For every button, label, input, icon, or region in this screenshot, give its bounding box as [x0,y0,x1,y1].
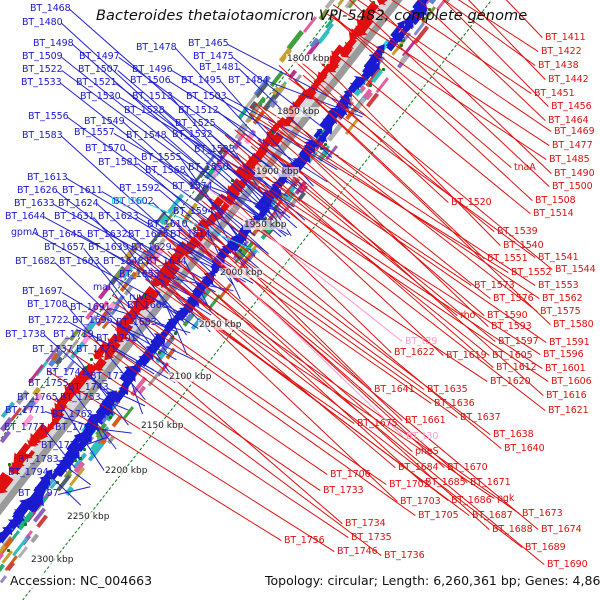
gene-label-reverse[interactable]: BT_1638 [493,430,534,440]
feature-bar [122,406,134,420]
gene-label-reverse[interactable]: BT_1702 [389,480,430,490]
gene-label-reverse[interactable]: BT_1553 [538,281,579,291]
gene-label-reverse[interactable]: BT_1688 [492,525,533,535]
gene-label-forward[interactable]: BT_1522 [22,65,63,75]
gene-label-forward[interactable]: BT_1549 [84,117,125,127]
gene-label-reverse[interactable]: BT_1675 [357,419,398,429]
feature-marker-dot [8,463,11,466]
gene-label-reverse[interactable]: BT_1661 [405,416,446,426]
gene-label-reverse[interactable]: BT_1500 [552,182,593,192]
feature-marker-dot [109,416,112,419]
gene-label-reverse[interactable]: BT_1580 [553,320,594,330]
gene-label-reverse[interactable]: BT_1438 [538,61,579,71]
gene-label-forward[interactable]: BT_1506 [130,76,171,86]
gene-label-forward[interactable]: BT_1498 [33,39,74,49]
gene-label-reverse[interactable]: BT_1612 [496,363,537,373]
leader-line-trna [209,188,403,342]
gene-label-forward[interactable]: BT_1478 [136,43,177,53]
feature-marker-dot [382,68,385,71]
gene-label-reverse[interactable]: BT_1422 [541,47,582,57]
gene-label-reverse[interactable]: BT_1591 [549,338,590,348]
gene-label-forward[interactable]: BT_1691 [70,303,111,313]
gene-label-forward[interactable]: BT_1497 [79,52,120,62]
gene-label-forward[interactable]: BT_1775 [41,441,82,451]
gene-label-forward[interactable]: BT_1626 [17,186,58,196]
feature-bar [400,55,409,65]
feature-bar [209,294,221,309]
gene-label-forward[interactable]: BT_1648 [103,257,144,267]
gene-label-forward[interactable]: BT_1570 [85,144,126,154]
gene-label-reverse[interactable]: BT_1514 [533,209,574,219]
gene-label-forward[interactable]: BT_1722 [28,316,69,326]
gene-label-reverse[interactable]: BT_1605 [492,351,533,361]
leader-line-reverse [82,332,381,556]
gene-label-reverse[interactable]: BT_1735 [351,533,392,543]
gene-label-forward[interactable]: BT_1568 [145,166,186,176]
feature-marker-dot [158,351,161,354]
gene-label-reverse[interactable]: BT_1635 [427,385,468,395]
trna-label[interactable]: BT_t30 [406,432,438,442]
gene-label-forward[interactable]: BT_1794 [8,468,49,478]
gene-label-reverse[interactable]: BT_1562 [542,294,583,304]
gene-label-forward[interactable]: BT_1771 [5,406,46,416]
gene-label-reverse[interactable]: BT_1689 [525,543,566,553]
gene-label-reverse[interactable]: BT_1705 [418,511,459,521]
gene-label-forward[interactable]: BT_1663 [59,257,100,267]
gene-label-forward[interactable]: BT_1525 [175,119,216,129]
feature-bar [287,30,304,50]
feature-marker-dot [83,448,86,451]
gene-label-reverse[interactable]: BT_1596 [543,350,584,360]
feature-marker-dot [239,249,242,252]
leader-line-reverse [268,121,491,299]
gene-label-forward[interactable]: BT_1777 [4,423,45,433]
gene-label-forward[interactable]: BT_1668 [127,301,168,311]
gene-label-forward[interactable]: BT_1538 [194,145,235,155]
gene-label-reverse[interactable]: BT_1640 [504,444,545,454]
kbp-tick-label: 2250 kbp [66,512,110,522]
gene-label-reverse[interactable]: BT_1606 [551,377,592,387]
gene-label-forward[interactable]: BT_1555 [141,153,182,163]
feature-marker-dot [215,201,218,204]
gene-label-forward[interactable]: BT_1629 [131,243,172,253]
gene-label-reverse[interactable]: BT_1621 [548,406,589,416]
gene-label-forward[interactable]: BT_1611 [62,186,103,196]
gene-label-forward[interactable]: BT_1625 [128,230,169,240]
gene-label-reverse[interactable]: BT_1622 [394,348,435,358]
feature-bar [429,0,437,4]
kbp-tick-label: 1800 kbp [286,54,330,64]
gene-label-reverse[interactable]: BT_1686 [451,496,492,506]
gene-label-forward[interactable]: maf [93,283,111,293]
feature-bar [6,562,15,572]
gene-label-forward[interactable]: BT_1755 [28,379,69,389]
gene-label-forward[interactable]: BT_1513 [132,92,173,102]
gene-label-reverse[interactable]: BT_1451 [534,89,575,99]
gene-label-forward[interactable]: BT_1633 [14,199,55,209]
gene-label-reverse[interactable]: BT_1756 [284,536,325,546]
gene-label-reverse[interactable]: BT_1575 [540,307,581,317]
feature-bar [345,118,359,135]
gene-label-reverse[interactable]: BT_1673 [522,509,563,519]
gene-label-forward[interactable]: BT_1719 [53,330,94,340]
gene-label-forward[interactable]: BT_1657 [44,243,85,253]
feature-marker-dot [400,44,403,47]
gene-label-forward[interactable]: BT_1613 [27,173,68,183]
topology-label: Topology: circular; Length: 6,260,361 bp… [263,573,600,588]
gene-label-forward[interactable]: BT_1634 [146,257,187,267]
gene-label-forward[interactable]: BT_1581 [98,158,139,168]
gene-label-reverse[interactable]: BT_1637 [460,413,501,423]
feature-marker-dot [24,523,27,526]
gene-label-forward[interactable]: BT_1721 [76,345,117,355]
gene-label-forward[interactable]: BT_1548 [126,131,167,141]
gene-label-reverse[interactable]: BT_1520 [451,198,492,208]
gene-label-forward[interactable]: BT_1509 [22,52,63,62]
gene-label-reverse[interactable]: BT_1590 [487,311,528,321]
gene-label-reverse[interactable]: pgk [497,494,514,504]
gene-label-forward[interactable]: BT_1481 [199,63,240,73]
gene-label-forward[interactable]: gpmA [11,228,38,238]
gene-label-forward[interactable]: BT_1484 [228,76,269,86]
gene-label-forward[interactable]: BT_1475 [193,52,234,62]
gene-label-forward[interactable]: BT_1797 [18,489,59,499]
gene-label-reverse[interactable]: BT_1541 [538,253,579,263]
gene-label-reverse[interactable]: BT_1539 [497,227,538,237]
leader-line-reverse [365,0,551,174]
kbp-tick-label: 2150 kbp [140,421,184,431]
gene-label-reverse[interactable]: BT_1670 [447,463,488,473]
gene-label-forward[interactable]: BT_1697 [22,287,63,297]
kbp-tick-label: 2100 kbp [168,372,212,382]
kbp-tick-label: 1850 kbp [276,107,320,117]
gene-label-reverse[interactable]: BT_1551 [487,254,528,264]
gene-label-forward[interactable]: BT_1507 [78,65,119,75]
gene-label-reverse[interactable]: BT_1477 [552,141,593,151]
gene-label-forward[interactable]: BT_1737 [32,345,73,355]
trna-label[interactable]: BT_t28 [111,197,143,207]
gene-label-reverse[interactable]: BT_1706 [330,470,371,480]
feature-marker-dot [174,332,177,335]
feature-marker-dot [90,358,93,361]
gene-label-forward[interactable]: BT_1645 [42,230,83,240]
gene-label-reverse[interactable]: BT_1442 [548,75,589,85]
gene-label-forward[interactable]: BT_1465 [188,39,229,49]
gene-label-reverse[interactable]: BT_1597 [498,337,539,347]
gene-label-reverse[interactable]: BT_1464 [548,116,589,126]
gene-label-forward[interactable]: BT_1766 [55,423,96,433]
gene-label-reverse[interactable]: BT_1593 [491,322,532,332]
feature-marker-dot [171,336,174,339]
kbp-tick-label: 1900 kbp [255,167,299,177]
gene-label-forward[interactable]: BT_1574 [172,182,213,192]
genome-map-viewport[interactable]: BT_1468BT_1480BT_1498BT_1465BT_1478BT_15… [0,0,600,600]
gene-label-reverse[interactable]: BT_1490 [554,169,595,179]
leader-line-reverse [264,126,485,316]
gene-label-reverse[interactable]: BT_1573 [474,281,515,291]
gene-label-forward[interactable]: BT_1701 [96,334,137,344]
gene-label-forward[interactable]: BT_1610 [147,220,188,230]
gene-label-forward[interactable]: BT_1682 [15,257,56,267]
feature-marker-dot [324,143,327,146]
feature-marker-dot [56,481,59,484]
gene-label-reverse[interactable]: BT_1733 [323,486,364,496]
gene-label-forward[interactable]: BT_1624 [58,199,99,209]
gene-label-reverse[interactable]: BT_1703 [400,497,441,507]
gene-label-forward[interactable]: BT_1639 [88,243,129,253]
leader-line-reverse [194,187,488,382]
gene-label-forward[interactable]: BT_1495 [181,76,222,86]
feature-marker-dot [7,549,10,552]
feature-marker-dot [231,179,234,182]
gene-label-reverse[interactable]: BT_1641 [374,385,415,395]
gene-label-forward[interactable]: BT_1556 [28,112,69,122]
gene-label-forward[interactable]: BT_1614 [170,230,211,240]
gene-label-forward[interactable]: BT_1644 [5,212,46,222]
gene-label-forward[interactable]: BT_1512 [178,106,219,116]
gene-label-forward[interactable]: BT_1592 [119,184,160,194]
gene-label-forward[interactable]: BT_1753 [60,393,101,403]
page-title: Bacteroides thetaiotaomicron VPI-5482, c… [96,8,527,24]
gene-label-reverse[interactable]: BT_1734 [345,519,386,529]
accession-label: Accession: NC_004663 [8,573,154,588]
feature-marker-dot [369,84,372,87]
gene-label-reverse[interactable]: BT_1576 [493,294,534,304]
gene-label-reverse[interactable]: BT_1619 [446,351,487,361]
feature-bar [148,368,163,386]
feature-marker-dot [402,39,405,42]
gene-label-forward[interactable]: BT_1532 [172,130,213,140]
gene-label-reverse[interactable]: BT_1601 [545,364,586,374]
gene-label-forward[interactable]: BT_1741 [46,368,87,378]
gene-label-reverse[interactable]: BT_1544 [555,265,596,275]
kbp-tick-label: 2000 kbp [219,268,263,278]
gene-label-forward[interactable]: BT_1696 [72,316,113,326]
gene-label-forward[interactable]: BT_1683 [116,318,157,328]
feature-bar [294,74,302,82]
feature-marker-dot [320,147,323,150]
gene-label-forward[interactable]: BT_1503 [186,92,227,102]
gene-label-forward[interactable]: BT_1550 [188,163,229,173]
leader-line-reverse [319,61,501,246]
feature-marker-dot [274,206,277,209]
gene-label-forward[interactable]: BT_1708 [27,300,68,310]
leader-line-reverse [199,220,372,390]
gene-label-forward[interactable]: BT_1496 [132,65,173,75]
gene-label-reverse[interactable]: BT_1552 [511,268,552,278]
gene-label-reverse[interactable]: BT_1736 [384,551,425,561]
gene-label-reverse[interactable]: BT_1687 [472,511,513,521]
gene-label-forward[interactable]: BT_1623 [98,212,139,222]
gene-label-forward[interactable]: BT_1468 [30,4,71,14]
leader-line-reverse [236,152,490,356]
gene-label-reverse[interactable]: BT_1674 [541,525,582,535]
gene-label-forward[interactable]: BT_1480 [22,18,63,28]
feature-bar [0,575,7,583]
gene-label-reverse[interactable]: BT_1616 [546,391,587,401]
gene-label-reverse[interactable]: BT_1684 [398,463,439,473]
gene-label-reverse[interactable]: BT_1746 [337,547,378,557]
gene-label-reverse[interactable]: BT_1469 [554,127,595,137]
feature-bar [376,77,389,93]
gene-label-forward[interactable]: BT_1521 [76,78,117,88]
gene-label-forward[interactable]: BT_1783 [18,455,59,465]
kbp-tick-label: 2050 kbp [198,320,242,330]
gene-label-reverse[interactable]: BT_1456 [551,102,592,112]
leader-line-reverse [127,259,469,516]
gene-label-forward[interactable]: BT_1631 [54,212,95,222]
gene-label-forward[interactable]: BT_1557 [74,128,115,138]
feature-bar [65,486,74,496]
gene-label-reverse[interactable]: BT_1620 [490,377,531,387]
gene-label-forward[interactable]: BT_1594 [173,207,214,217]
gene-label-forward[interactable]: BT_1762 [52,410,93,420]
kbp-tick-label: 1950 kbp [243,220,287,230]
kbp-tick-label: 2300 kbp [30,555,74,565]
gene-label-forward[interactable]: BT_1632 [87,230,128,240]
gene-label-reverse[interactable]: BT_1411 [545,33,586,43]
gene-label-reverse[interactable]: BT_1485 [549,155,590,165]
gene-label-forward[interactable]: BT_1653 [119,270,160,280]
feature-marker-dot [74,459,77,462]
gene-label-reverse[interactable]: BT_1671 [470,478,511,488]
gene-label-forward[interactable]: BT_1583 [22,131,63,141]
gene-label-forward[interactable]: BT_1528 [124,106,165,116]
gene-label-reverse[interactable]: BT_1690 [547,560,588,570]
gene-label-forward[interactable]: BT_1738 [5,330,46,340]
gene-label-forward[interactable]: BT_1732 [90,372,131,382]
gene-label-reverse[interactable]: BT_1540 [503,241,544,251]
gene-label-reverse[interactable]: BT_1508 [535,196,576,206]
gene-label-reverse[interactable]: tnaA [514,163,536,173]
gene-label-reverse[interactable]: BT_1636 [434,399,475,409]
leader-line-reverse [145,256,395,468]
feature-bar [31,534,40,543]
gene-label-reverse[interactable]: rho [460,311,475,321]
kbp-tick-label: 2200 kbp [104,466,148,476]
gene-label-forward[interactable]: BT_1530 [80,92,121,102]
gene-label-forward[interactable]: BT_1533 [21,78,62,88]
gene-label-reverse[interactable]: BT_1685 [425,478,466,488]
trna-label[interactable]: BT_t29 [405,337,437,347]
gene-label-forward[interactable]: BT_1765 [17,393,58,403]
gene-label-reverse[interactable]: pheS [415,447,439,457]
